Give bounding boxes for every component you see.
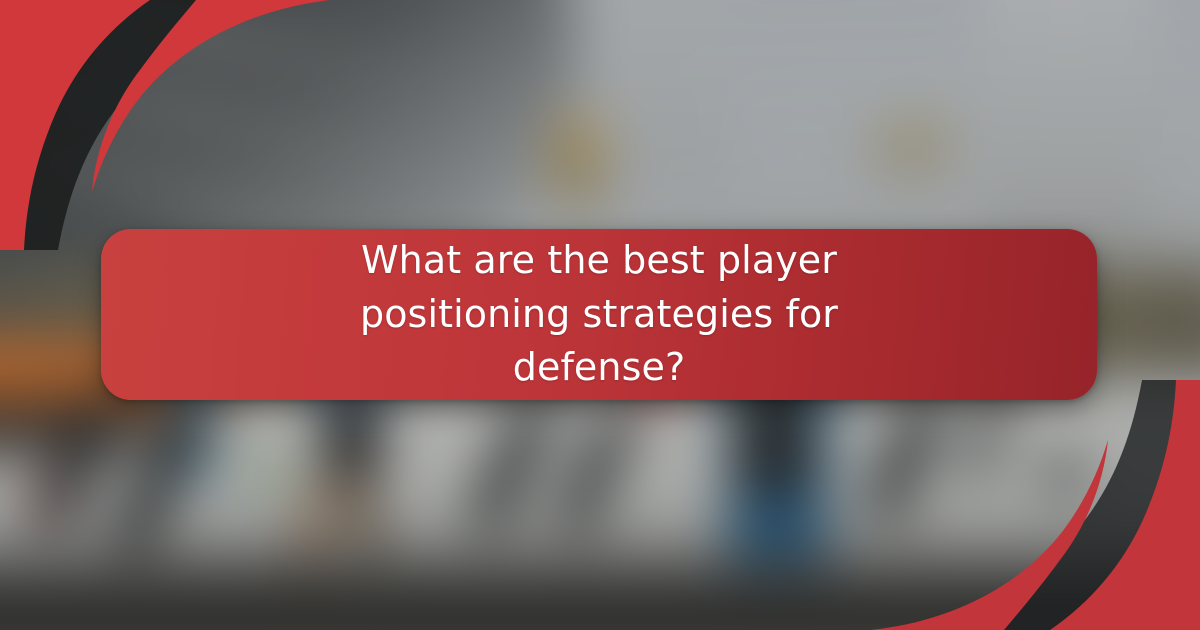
- question-text: What are the best player positioning str…: [269, 234, 929, 396]
- question-card: What are the best player positioning str…: [101, 229, 1097, 400]
- share-card-canvas: What are the best player positioning str…: [0, 0, 1200, 630]
